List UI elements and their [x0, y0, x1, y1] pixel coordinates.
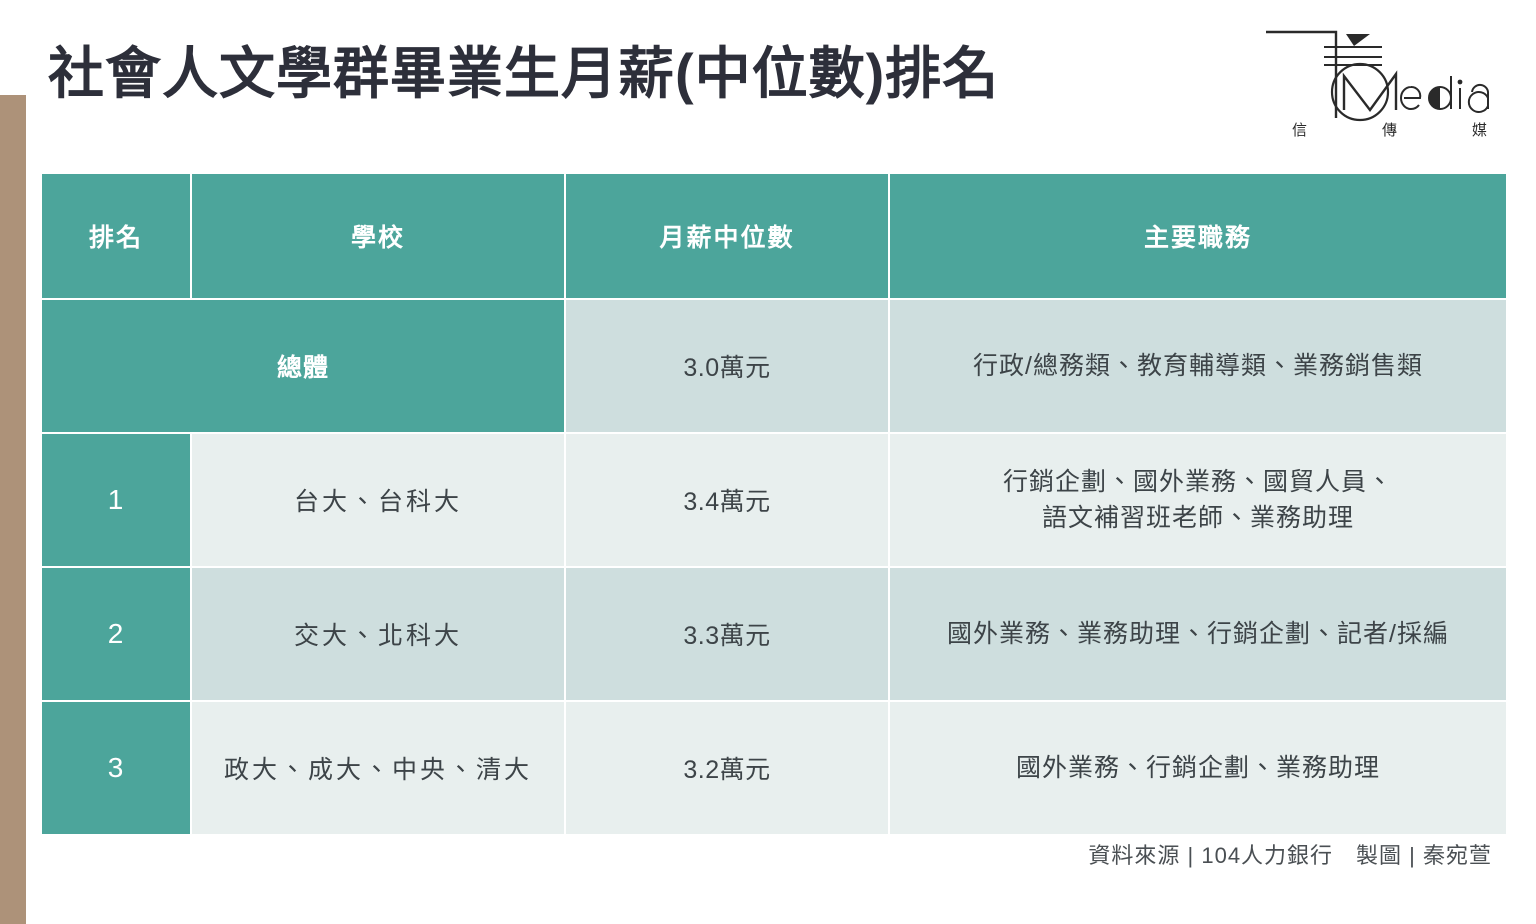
school-cell: 政大、成大、中央、清大	[192, 702, 564, 834]
infographic-page: 社會人文學群畢業生月薪(中位數)排名	[0, 0, 1536, 924]
cmmedia-logo: 信 傳 媒	[1258, 14, 1494, 144]
column-header-salary: 月薪中位數	[566, 174, 888, 298]
table-body: 總體 3.0萬元 行政/總務類、教育輔導類、業務銷售類 1 台大、台科大 3.4…	[42, 300, 1506, 834]
rank-cell: 2	[42, 568, 190, 700]
salary-cell: 3.4萬元	[566, 434, 888, 566]
jobs-line: 語文補習班老師、業務助理	[908, 500, 1488, 536]
jobs-line: 國外業務、行銷企劃、業務助理	[908, 750, 1488, 786]
table-row-overall: 總體 3.0萬元 行政/總務類、教育輔導類、業務銷售類	[42, 300, 1506, 432]
jobs-line: 行銷企劃、國外業務、國貿人員、	[908, 464, 1488, 500]
table-row: 1 台大、台科大 3.4萬元 行銷企劃、國外業務、國貿人員、 語文補習班老師、業…	[42, 434, 1506, 566]
logo-cn-3: 媒	[1472, 119, 1488, 140]
ranking-table-container: 排名 學校 月薪中位數 主要職務 總體 3.0萬元 行政/總務類、教育輔導類、業…	[40, 172, 1500, 836]
rank-cell: 3	[42, 702, 190, 834]
table-header: 排名 學校 月薪中位數 主要職務	[42, 174, 1506, 298]
school-cell: 交大、北科大	[192, 568, 564, 700]
table-row: 3 政大、成大、中央、清大 3.2萬元 國外業務、行銷企劃、業務助理	[42, 702, 1506, 834]
school-cell: 台大、台科大	[192, 434, 564, 566]
source-credit: 資料來源 | 104人力銀行 製圖 | 秦宛萱	[1088, 838, 1492, 870]
table-row: 2 交大、北科大 3.3萬元 國外業務、業務助理、行銷企劃、記者/採編	[42, 568, 1506, 700]
jobs-cell: 行銷企劃、國外業務、國貿人員、 語文補習班老師、業務助理	[890, 434, 1506, 566]
ranking-table: 排名 學校 月薪中位數 主要職務 總體 3.0萬元 行政/總務類、教育輔導類、業…	[40, 172, 1508, 836]
overall-label-cell: 總體	[42, 300, 564, 432]
overall-salary-cell: 3.0萬元	[566, 300, 888, 432]
salary-cell: 3.2萬元	[566, 702, 888, 834]
column-header-jobs: 主要職務	[890, 174, 1506, 298]
rank-cell: 1	[42, 434, 190, 566]
header-row: 排名 學校 月薪中位數 主要職務	[42, 174, 1506, 298]
logo-cn-2: 傳	[1382, 119, 1398, 140]
page-title: 社會人文學群畢業生月薪(中位數)排名	[48, 42, 999, 106]
jobs-cell: 國外業務、業務助理、行銷企劃、記者/採編	[890, 568, 1506, 700]
column-header-school: 學校	[192, 174, 564, 298]
jobs-cell: 國外業務、行銷企劃、業務助理	[890, 702, 1506, 834]
column-header-rank: 排名	[42, 174, 190, 298]
left-accent-bar	[0, 95, 26, 924]
logo-mark-icon	[1258, 14, 1494, 126]
header: 社會人文學群畢業生月薪(中位數)排名	[0, 0, 1536, 160]
logo-cn-1: 信	[1292, 119, 1308, 140]
jobs-line: 國外業務、業務助理、行銷企劃、記者/採編	[908, 616, 1488, 652]
salary-cell: 3.3萬元	[566, 568, 888, 700]
overall-jobs-cell: 行政/總務類、教育輔導類、業務銷售類	[890, 300, 1506, 432]
